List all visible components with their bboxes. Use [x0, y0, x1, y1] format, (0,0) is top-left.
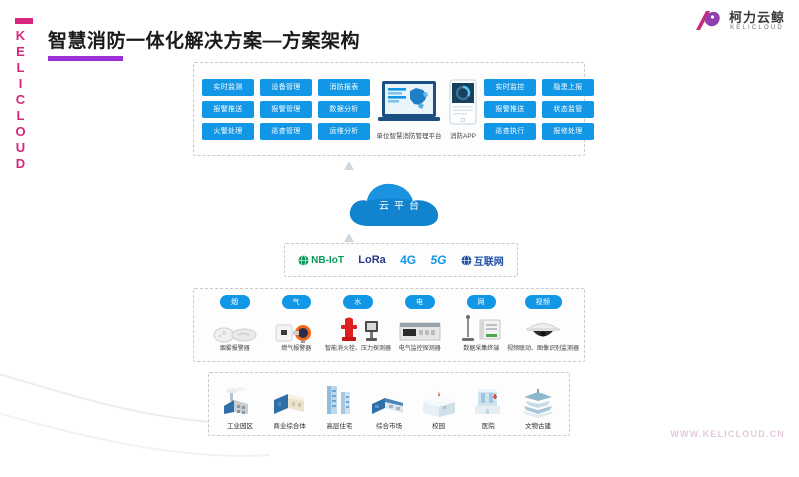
blue-globe-icon — [461, 255, 472, 266]
building-caption: 高层住宅 — [326, 420, 352, 430]
brand-rail: KELICLOUD — [14, 18, 40, 172]
platform-button[interactable]: 状态监管 — [542, 101, 594, 118]
market-icon — [369, 388, 409, 418]
title-underline — [48, 56, 123, 61]
platform-button[interactable]: 巡查执行 — [484, 123, 536, 140]
building-caption: 校园 — [432, 420, 445, 430]
network-tier-panel: NB-IoT LoRa 4G 5G 互联网 — [284, 243, 518, 277]
sensor-category-pill: 视频 — [525, 295, 562, 309]
sensor-category-pill: 水 — [343, 295, 373, 309]
platform-tier-panel: 实时监测 设备管理 消防报表 报警推送 报警管理 数据分析 火警处理 巡查管理 … — [193, 62, 585, 156]
sensor-caption: 视频联动、图像识别监测器 — [507, 346, 579, 353]
company-logo: 柯力云鲸 KELICLOUD — [693, 8, 785, 34]
logo-name-cn: 柯力云鲸 — [729, 11, 785, 25]
sensor-caption: 燃气报警器 — [281, 346, 311, 353]
platform-button[interactable]: 报警推送 — [484, 101, 536, 118]
platform-button[interactable]: 实时监测 — [202, 79, 254, 96]
platform-button[interactable]: 运维分析 — [318, 123, 370, 140]
laptop-device: 单位智慧消防管理平台 — [376, 79, 442, 140]
arrow-up-from-network — [344, 233, 354, 242]
fire-hydrant-icon — [335, 315, 381, 343]
network-item-internet: 互联网 — [461, 253, 504, 268]
platform-left-button-grid: 实时监测 设备管理 消防报表 报警推送 报警管理 数据分析 火警处理 巡查管理 … — [202, 79, 370, 140]
brand-dash — [15, 18, 33, 24]
building-caption: 文物古建 — [525, 420, 551, 430]
platform-button[interactable]: 数据分析 — [318, 101, 370, 118]
building-item-factory: 工业园区 — [217, 384, 263, 430]
platform-button[interactable]: 报警管理 — [260, 101, 312, 118]
sensor-caption: 烟雾报警器 — [220, 346, 250, 353]
campus-icon — [419, 388, 459, 418]
platform-button[interactable]: 巡查管理 — [260, 123, 312, 140]
building-item-campus: 校园 — [416, 384, 462, 430]
logo-mark-icon — [693, 8, 723, 34]
sensor-caption: 电气监控探测器 — [399, 346, 441, 353]
phone-caption: 消防APP — [450, 130, 476, 140]
laptop-caption: 单位智慧消防管理平台 — [377, 130, 442, 140]
network-label: 4G — [400, 253, 416, 267]
platform-right-button-grid: 实时监控 隐患上报 报警推送 状态监管 巡查执行 报修处理 — [484, 79, 594, 140]
building-tier-panel: 工业园区 商业综合体 — [208, 372, 570, 436]
sensor-caption: 智能消火栓、压力探测器 — [325, 346, 391, 353]
building-caption: 商业综合体 — [273, 420, 306, 430]
electric-monitor-icon — [397, 317, 443, 343]
building-item-market: 综合市场 — [366, 384, 412, 430]
gas-alarm-icon — [273, 317, 319, 343]
logo-name-en: KELICLOUD — [729, 25, 785, 31]
arrow-up-to-platform — [344, 161, 354, 170]
network-label: 互联网 — [474, 253, 504, 268]
sensor-category-pill: 烟 — [220, 295, 250, 309]
network-item-lora: LoRa — [358, 254, 386, 266]
platform-button[interactable]: 报修处理 — [542, 123, 594, 140]
building-item-heritage: 文物古建 — [515, 384, 561, 430]
smoke-detector-icon — [212, 317, 258, 343]
platform-button[interactable]: 隐患上报 — [542, 79, 594, 96]
sensor-column-smoke: 烟 烟雾报警器 — [204, 295, 266, 361]
building-caption: 医院 — [482, 420, 495, 430]
sensor-column-video: 视频 视频联动、图像识别监测器 — [512, 295, 574, 361]
gateway-icon — [458, 315, 504, 343]
hospital-icon — [468, 386, 508, 418]
cloud-platform-node: 云平台 — [343, 176, 455, 232]
building-item-mall: 商业综合体 — [267, 384, 313, 430]
cloud-label: 云平台 — [343, 176, 455, 232]
dome-camera-icon — [520, 317, 566, 343]
sensor-column-water: 水 智能消火栓、压力探测器 — [327, 295, 389, 361]
network-label: 5G — [430, 253, 446, 267]
sensor-column-network: 网 数据采集终端 — [451, 295, 513, 361]
network-item-nb-iot: NB-IoT — [298, 255, 344, 266]
highrise-icon — [319, 384, 359, 418]
building-caption: 综合市场 — [376, 420, 402, 430]
page-title: 智慧消防一体化解决方案—方案架构 — [48, 26, 360, 53]
mall-icon — [270, 386, 310, 418]
sensor-category-pill: 电 — [405, 295, 435, 309]
platform-button[interactable]: 报警推送 — [202, 101, 254, 118]
sensor-column-electric: 电 电气监控探测器 — [389, 295, 451, 361]
factory-icon — [220, 386, 260, 418]
platform-button[interactable]: 消防报表 — [318, 79, 370, 96]
building-item-highrise: 高层住宅 — [316, 384, 362, 430]
phone-device: 消防APP — [448, 79, 478, 140]
network-item-4g: 4G — [400, 253, 416, 267]
sensor-column-gas: 气 燃气报警器 — [266, 295, 328, 361]
sensor-tier-panel: 烟 烟雾报警器 气 — [193, 288, 585, 362]
brand-vertical-text: KELICLOUD — [14, 28, 27, 172]
footer-url: WWW.KELICLOUD.CN — [670, 429, 785, 439]
building-item-hospital: 医院 — [465, 384, 511, 430]
platform-button[interactable]: 火警处理 — [202, 123, 254, 140]
building-caption: 工业园区 — [227, 420, 253, 430]
platform-button[interactable]: 设备管理 — [260, 79, 312, 96]
platform-button[interactable]: 实时监控 — [484, 79, 536, 96]
network-item-5g: 5G — [430, 253, 446, 267]
sensor-category-pill: 气 — [282, 295, 312, 309]
laptop-icon — [376, 79, 442, 127]
network-label: NB-IoT — [311, 255, 344, 266]
smartphone-icon — [448, 79, 478, 127]
green-globe-icon — [298, 255, 309, 266]
sensor-category-pill: 网 — [467, 295, 497, 309]
network-label: LoRa — [358, 254, 386, 266]
sensor-caption: 数据采集终端 — [463, 346, 499, 353]
heritage-icon — [518, 388, 558, 418]
